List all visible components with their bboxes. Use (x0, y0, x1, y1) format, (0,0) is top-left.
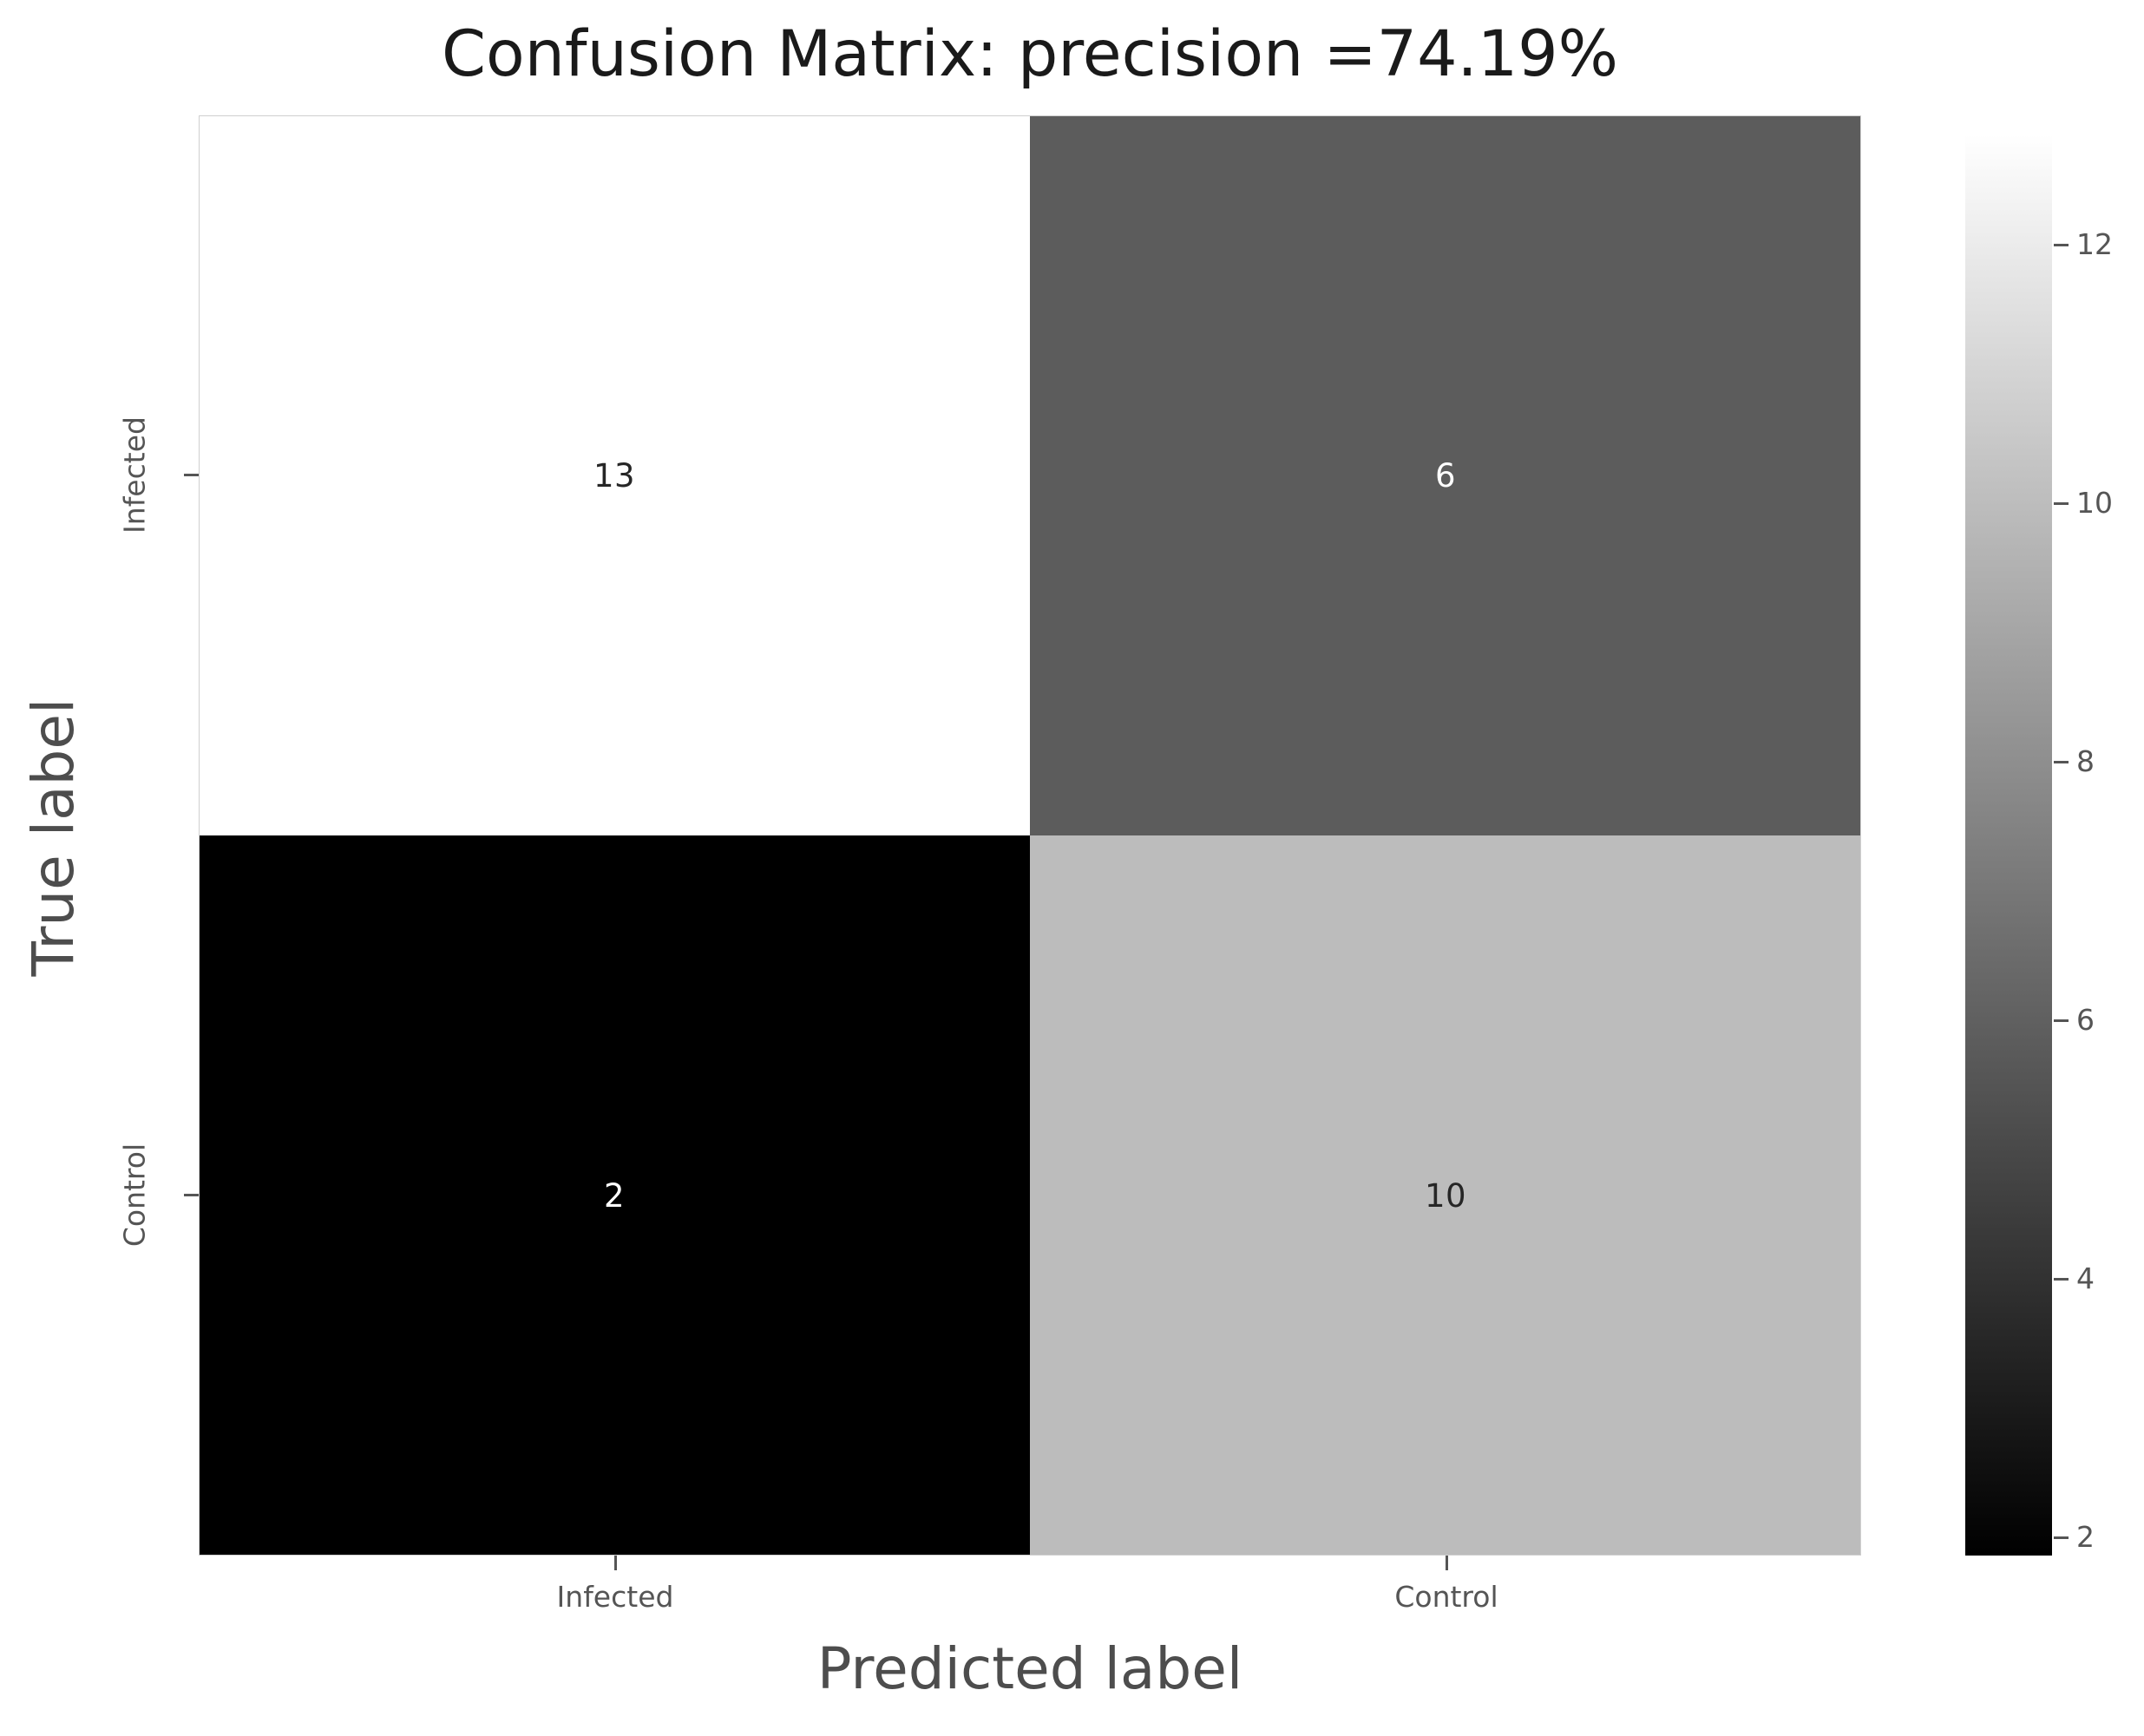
matrix-cell-value: 2 (604, 1180, 625, 1212)
x-tick-label-control: Control (1273, 1580, 1620, 1615)
colorbar-tick-mark-2 (2054, 1536, 2069, 1539)
y-tick-mark-control (184, 1194, 199, 1196)
chart-title: Confusion Matrix: precision =74.19% (199, 16, 1861, 94)
colorbar-tick-mark-4 (2054, 1278, 2069, 1281)
y-tick-label-infected: Infected (121, 363, 149, 588)
colorbar-tick-mark-6 (2054, 1019, 2069, 1022)
matrix-cell-value: 10 (1425, 1180, 1466, 1212)
colorbar[interactable] (1965, 134, 2052, 1556)
confusion-matrix-grid: 13 6 2 10 (199, 115, 1861, 1556)
matrix-cell-control-infected[interactable]: 2 (199, 835, 1030, 1556)
x-axis-title: Predicted label (199, 1635, 1861, 1703)
colorbar-tick-label-12: 12 (2076, 230, 2113, 259)
colorbar-tick-label-8: 8 (2076, 747, 2095, 776)
matrix-cell-control-control[interactable]: 10 (1030, 835, 1861, 1556)
colorbar-tick-label-6: 6 (2076, 1006, 2095, 1034)
colorbar-tick-label-10: 10 (2076, 488, 2113, 517)
matrix-cell-value: 13 (593, 460, 635, 492)
colorbar-tick-label-4: 4 (2076, 1264, 2095, 1293)
colorbar-gradient (1965, 134, 2052, 1556)
x-tick-mark-control (1446, 1556, 1448, 1570)
colorbar-tick-mark-8 (2054, 761, 2069, 763)
y-tick-label-control: Control (121, 1083, 149, 1308)
colorbar-tick-label-2: 2 (2076, 1523, 2095, 1551)
matrix-cell-value: 6 (1435, 460, 1456, 492)
matrix-cell-infected-infected[interactable]: 13 (199, 115, 1030, 835)
confusion-matrix-figure: Confusion Matrix: precision =74.19% 13 6… (0, 0, 2144, 1736)
y-axis-title: True label (23, 594, 84, 1080)
x-tick-mark-infected (614, 1556, 617, 1570)
matrix-cell-infected-control[interactable]: 6 (1030, 115, 1861, 835)
colorbar-tick-mark-10 (2054, 502, 2069, 505)
y-tick-mark-infected (184, 474, 199, 476)
colorbar-tick-mark-12 (2054, 244, 2069, 246)
x-tick-label-infected: Infected (442, 1580, 789, 1615)
